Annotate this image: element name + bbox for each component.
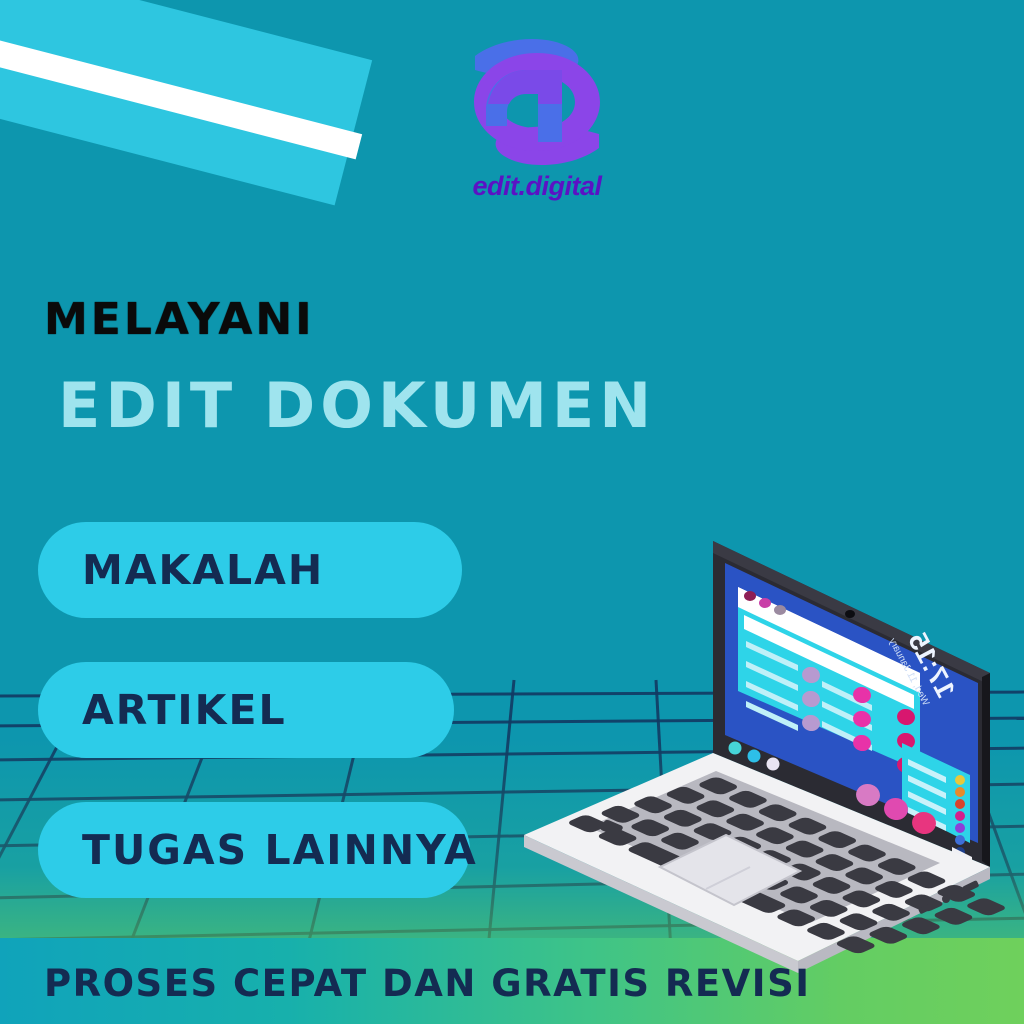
service-pill-label: MAKALAH	[38, 546, 324, 594]
service-pill-tugas-lainnya[interactable]: TUGAS LAINNYA	[38, 802, 470, 898]
service-pill-artikel[interactable]: ARTIKEL	[38, 662, 454, 758]
brand-wordmark: edit.digital	[452, 171, 622, 202]
service-pill-label: ARTIKEL	[38, 686, 287, 734]
service-pill-makalah[interactable]: MAKALAH	[38, 522, 462, 618]
page-title: EDIT DOKUMEN	[58, 369, 656, 442]
footer-tagline: PROSES CEPAT DAN GRATIS REVISI	[44, 962, 810, 1005]
eyebrow-heading: MELAYANI	[44, 294, 315, 345]
service-pill-label: TUGAS LAINNYA	[38, 826, 478, 874]
poster-canvas: edit.digital MELAYANI EDIT DOKUMEN MAKAL…	[0, 0, 1024, 1024]
laptop-illustration: 17:15 Wed, 11 January	[510, 495, 1024, 1015]
edit-digital-monogram-icon	[462, 30, 612, 175]
brand-logo: edit.digital	[452, 30, 622, 215]
